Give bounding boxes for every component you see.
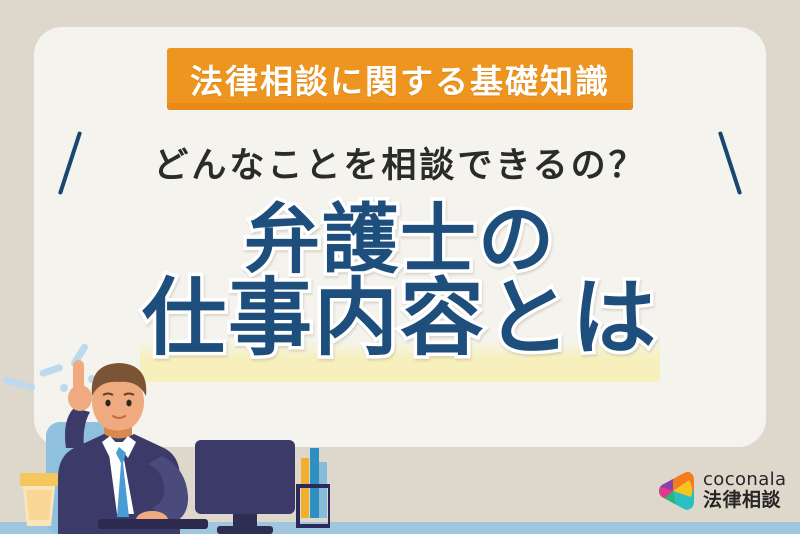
coconala-logo-text: coconala 法律相談 <box>703 471 787 511</box>
category-banner: 法律相談に関する基礎知識 <box>167 48 633 110</box>
poster-canvas: 法律相談に関する基礎知識 どんなことを相談できるの？ 弁護士の 仕事内容とは <box>0 0 800 534</box>
fist <box>68 385 92 411</box>
coconala-logo-name: coconala <box>703 471 787 490</box>
page-title-line-1: 弁護士の <box>0 200 800 279</box>
coconala-logo[interactable]: coconala 法律相談 <box>652 468 787 514</box>
businessman-illustration <box>0 330 330 534</box>
desktop-monitor-icon <box>195 440 295 534</box>
keyboard <box>98 519 208 529</box>
category-banner-label: 法律相談に関する基礎知識 <box>190 55 610 103</box>
pen-holder-icon <box>298 448 330 526</box>
coconala-logo-sub: 法律相談 <box>703 490 787 511</box>
subtitle-row: どんなことを相談できるの？ <box>0 126 800 198</box>
coconala-pinwheel-icon <box>652 471 694 511</box>
subtitle-text: どんなことを相談できるの？ <box>153 137 646 188</box>
